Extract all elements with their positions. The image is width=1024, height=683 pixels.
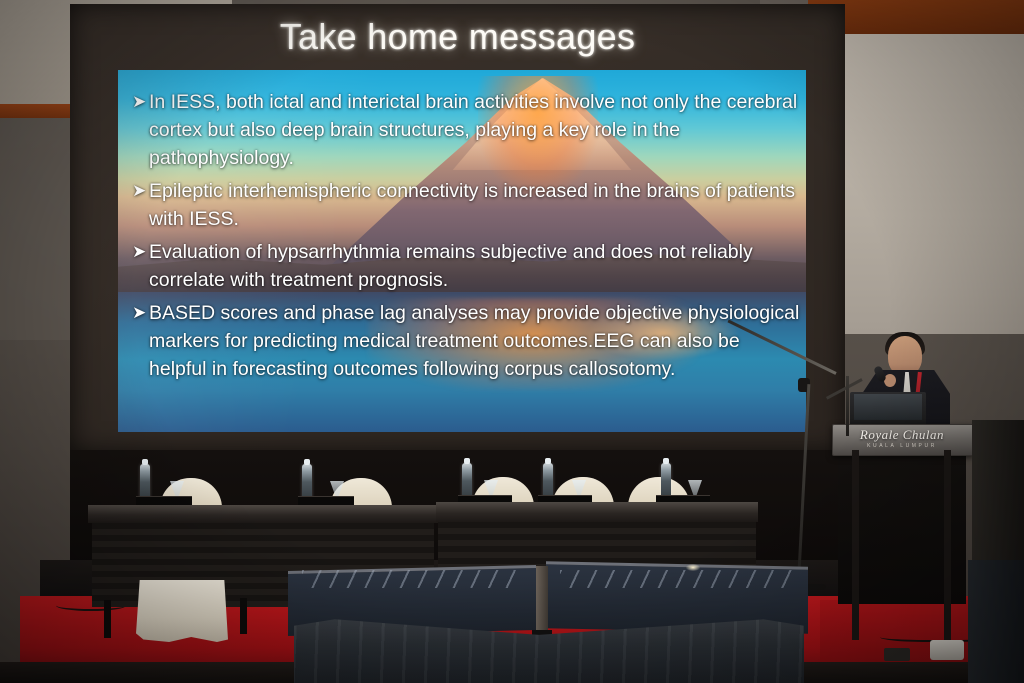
- venue-city: KUALA LUMPUR: [832, 443, 972, 449]
- white-table-cloth: [136, 580, 228, 642]
- list-item: ➤ Evaluation of hypsarrhythmia remains s…: [132, 238, 800, 294]
- truss-light-glint: [686, 564, 700, 571]
- foreground-draped-barrier: [288, 560, 808, 683]
- podium-leg: [852, 450, 859, 640]
- bullet-arrow-icon: ➤: [132, 88, 149, 172]
- bullet-text: Evaluation of hypsarrhythmia remains sub…: [149, 238, 800, 294]
- bullet-arrow-icon: ➤: [132, 238, 149, 294]
- bullet-text: In IESS, both ictal and interictal brain…: [149, 88, 800, 172]
- truss-lattice-left: [302, 570, 522, 588]
- bullet-text: Epileptic interhemispheric connectivity …: [149, 177, 800, 233]
- presentation-photo: Take home messages ➤ In IESS, both ictal…: [0, 0, 1024, 683]
- speaker-hand: [884, 374, 896, 387]
- laptop-screen: [854, 394, 922, 420]
- foreground-pillar-right: [968, 560, 1024, 683]
- bullet-arrow-icon: ➤: [132, 299, 149, 383]
- upper-wall-panel-right: [840, 34, 1024, 334]
- bullet-arrow-icon: ➤: [132, 177, 149, 233]
- floor-equipment-small: [884, 648, 910, 661]
- head-table-right: [436, 502, 758, 522]
- podium-leg: [944, 450, 951, 640]
- table-leg: [104, 600, 111, 638]
- list-item: ➤ BASED scores and phase lag analyses ma…: [132, 299, 800, 383]
- list-item: ➤ Epileptic interhemispheric connectivit…: [132, 177, 800, 233]
- slide-title: Take home messages: [70, 16, 845, 58]
- slide-bullet-list: ➤ In IESS, both ictal and interictal bra…: [132, 88, 800, 388]
- microphone-stand-secondary: [846, 376, 849, 436]
- head-table-left: [88, 505, 438, 523]
- truss-lattice-right: [560, 570, 792, 588]
- truss-center-post: [536, 566, 548, 636]
- table-leg: [240, 598, 247, 634]
- floor-equipment-box: [930, 640, 964, 660]
- list-item: ➤ In IESS, both ictal and interictal bra…: [132, 88, 800, 172]
- venue-name: Royale Chulan: [832, 427, 972, 443]
- bullet-text: BASED scores and phase lag analyses may …: [149, 299, 800, 383]
